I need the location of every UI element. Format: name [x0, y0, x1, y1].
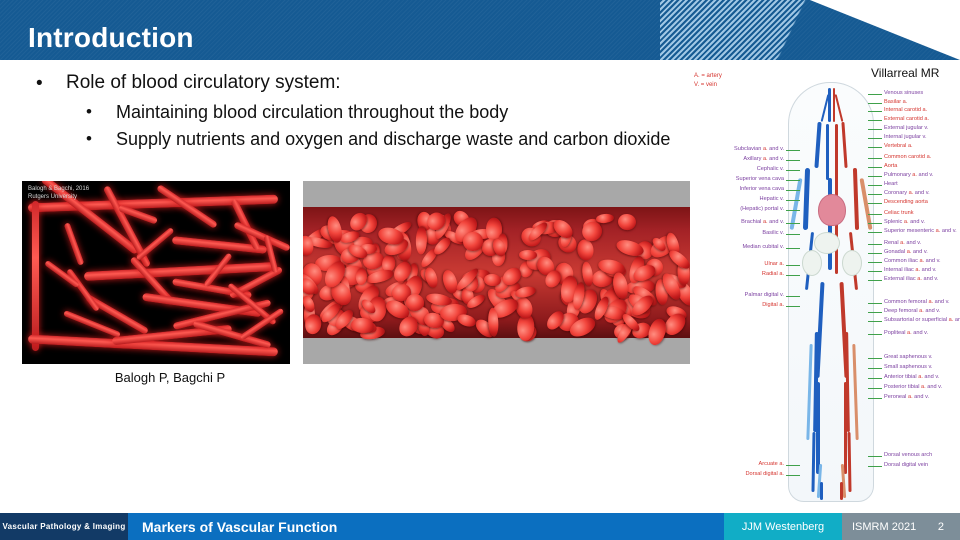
label-leader-line — [868, 262, 882, 263]
label-leader-line — [868, 358, 882, 359]
circulatory-system-diagram: A. = artery V. = vein Villarreal MR Subc… — [688, 44, 960, 506]
heart-organ — [818, 194, 846, 226]
label-leader-line — [868, 378, 882, 379]
anatomy-label: Internal iliac a. and v. — [884, 267, 936, 274]
anatomy-label: Digital a. — [762, 302, 784, 309]
anatomy-label: Dorsal digital vein — [884, 462, 928, 469]
artery-vessel — [844, 382, 847, 474]
label-leader-line — [786, 248, 800, 249]
anatomy-label: Renal a. and v. — [884, 240, 921, 247]
anatomy-label: Venous sinuses — [884, 90, 923, 97]
label-leader-line — [868, 158, 882, 159]
label-leader-line — [786, 200, 800, 201]
label-leader-line — [786, 306, 800, 307]
label-leader-line — [786, 150, 800, 151]
footer-title-bar: Markers of Vascular Function — [128, 513, 724, 540]
anatomy-label: Basilic v. — [762, 230, 784, 237]
label-leader-line — [868, 368, 882, 369]
anatomy-label: (Hepatic) portal v. — [740, 206, 784, 213]
anatomy-label: Palmar digital v. — [745, 292, 784, 299]
label-leader-line — [786, 475, 800, 476]
label-leader-line — [786, 190, 800, 191]
figure-caption: Balogh P, Bagchi P — [60, 370, 280, 385]
bullet-level2-text: Supply nutrients and oxygen and discharg… — [116, 129, 670, 149]
red-blood-cell — [519, 249, 537, 260]
anatomy-label: Great saphenous v. — [884, 354, 932, 361]
footer-conference: ISMRM 2021 — [852, 521, 916, 533]
label-leader-line — [786, 296, 800, 297]
bullet-marker-icon: • — [86, 126, 92, 152]
anatomy-label: Popliteal a. and v. — [884, 330, 928, 337]
label-leader-line — [868, 303, 882, 304]
vein-vessel — [826, 124, 829, 180]
vein-vessel — [828, 88, 831, 122]
diagram-author: Villarreal MR — [871, 66, 939, 80]
footer-author-bar: JJM Westenberg — [724, 513, 842, 540]
anatomy-label: Ulnar a. — [764, 261, 784, 268]
vein-vessel — [816, 382, 820, 474]
label-leader-line — [868, 253, 882, 254]
anatomy-label: Inferior vena cava — [740, 186, 784, 193]
footer-title: Markers of Vascular Function — [142, 519, 337, 535]
vessel-segment — [84, 262, 274, 281]
anatomy-label: Descending aorta — [884, 199, 928, 206]
label-leader-line — [868, 388, 882, 389]
label-leader-line — [786, 275, 800, 276]
label-leader-line — [786, 465, 800, 466]
anatomy-label: External jugular v. — [884, 125, 928, 132]
anatomy-label: Common femoral a. and v. — [884, 299, 950, 306]
label-leader-line — [868, 456, 882, 457]
anatomy-label: Coronary a. and v. — [884, 190, 930, 197]
bullet-level2-item: • Supply nutrients and oxygen and discha… — [24, 126, 724, 152]
anatomy-label: Anterior tibial a. and v. — [884, 374, 939, 381]
anatomy-label: Common carotid a. — [884, 154, 931, 161]
label-leader-line — [786, 180, 800, 181]
slide-footer: Vascular Pathology & Imaging Markers of … — [0, 513, 960, 540]
anatomy-label: Celiac trunk — [884, 210, 914, 217]
artery-vessel — [833, 88, 835, 122]
anatomy-label: Internal carotid a. — [884, 107, 927, 114]
label-leader-line — [868, 194, 882, 195]
label-leader-line — [868, 334, 882, 335]
anatomy-label: Radial a. — [762, 271, 784, 278]
label-leader-line — [868, 312, 882, 313]
label-leader-line — [868, 147, 882, 148]
human-body-figure — [788, 82, 874, 502]
artery-vessel — [840, 482, 843, 500]
label-leader-line — [868, 203, 882, 204]
label-leader-line — [868, 167, 882, 168]
bullet-marker-icon: • — [86, 99, 92, 125]
anatomy-label: External carotid a. — [884, 116, 929, 123]
anatomy-label: Common iliac a. and v. — [884, 258, 941, 265]
label-leader-line — [868, 398, 882, 399]
anatomy-label: Pulmonary a. and v. — [884, 172, 933, 179]
vein-vessel — [820, 482, 823, 500]
anatomy-label: Arcuate a. — [759, 461, 785, 468]
footer-logo: Vascular Pathology & Imaging — [0, 513, 128, 540]
abdominal-organ — [814, 232, 840, 254]
legend-vein: V. = vein — [694, 81, 722, 90]
credit-line-2: Rutgers University — [28, 193, 89, 201]
anatomy-label: Median cubital v. — [742, 244, 784, 251]
label-leader-line — [868, 271, 882, 272]
diagram-legend: A. = artery V. = vein — [694, 72, 722, 89]
artery-vessel — [835, 124, 838, 180]
footer-logo-text: Vascular Pathology & Imaging — [2, 522, 125, 531]
bullet-level2-item: • Maintaining blood circulation througho… — [24, 99, 724, 125]
label-leader-line — [868, 321, 882, 322]
label-leader-line — [786, 223, 800, 224]
anatomy-label: Posterior tibial a. and v. — [884, 384, 942, 391]
anatomy-label: Peroneal a. and v. — [884, 394, 929, 401]
credit-line-1: Balogh & Bagchi, 2016 — [28, 185, 89, 193]
body-silhouette — [788, 82, 874, 502]
label-leader-line — [868, 214, 882, 215]
label-leader-line — [868, 280, 882, 281]
anatomy-label: Brachial a. and v. — [741, 219, 784, 226]
red-blood-cell-image — [303, 181, 690, 364]
legend-artery: A. = artery — [694, 72, 722, 81]
microvasculature-image: Balogh & Bagchi, 2016 Rutgers University — [22, 181, 290, 364]
label-leader-line — [868, 120, 882, 121]
anatomy-label: Small saphenous v. — [884, 364, 932, 371]
anatomy-label: Dorsal digital a. — [745, 471, 784, 478]
artery-vessel — [835, 178, 838, 274]
label-leader-line — [786, 265, 800, 266]
bullet-level2-text: Maintaining blood circulation throughout… — [116, 102, 508, 122]
label-leader-line — [868, 111, 882, 112]
anatomy-label: Subsartorial or superficial a. and v. — [884, 317, 960, 324]
bullet-list: • Role of blood circulatory system: • Ma… — [24, 70, 724, 153]
anatomy-label: Splenic a. and v. — [884, 219, 925, 226]
anatomy-label: Aorta — [884, 163, 897, 170]
abdominal-organ — [842, 250, 862, 276]
microvasculature-credit: Balogh & Bagchi, 2016 Rutgers University — [28, 185, 89, 201]
anatomy-label: Superior mesenteric a. and v. — [884, 228, 957, 235]
vessel-segment — [64, 222, 85, 265]
label-leader-line — [868, 185, 882, 186]
anatomy-label: External iliac a. and v. — [884, 276, 938, 283]
footer-author: JJM Westenberg — [742, 521, 824, 533]
anatomy-label: Heart — [884, 181, 898, 188]
anatomy-label: Subclavian a. and v. — [734, 146, 784, 153]
anatomy-label: Basilar a. — [884, 99, 907, 106]
anatomy-label: Axillary a. and v. — [743, 156, 784, 163]
bullet-marker-icon: • — [36, 71, 43, 97]
anatomy-label: Cephalic v. — [757, 166, 784, 173]
label-leader-line — [868, 129, 882, 130]
label-leader-line — [868, 244, 882, 245]
label-leader-line — [868, 176, 882, 177]
footer-page-number: 2 — [938, 521, 944, 533]
abdominal-organ — [802, 250, 822, 276]
red-blood-cell — [483, 273, 501, 286]
anatomy-label: Dorsal venous arch — [884, 452, 932, 459]
red-blood-cell — [462, 231, 483, 251]
anatomy-label: Deep femoral a. and v. — [884, 308, 940, 315]
label-leader-line — [786, 210, 800, 211]
anatomy-label: Hepatic v. — [760, 196, 784, 203]
footer-conference-bar: ISMRM 2021 2 — [842, 513, 960, 540]
anatomy-label: Internal jugular v. — [884, 134, 927, 141]
label-leader-line — [868, 232, 882, 233]
label-leader-line — [868, 103, 882, 104]
anatomy-label: Superior vena cava — [736, 176, 784, 183]
page-title: Introduction — [28, 22, 194, 54]
label-leader-line — [868, 223, 882, 224]
label-leader-line — [786, 234, 800, 235]
label-leader-line — [868, 94, 882, 95]
vessel-segment — [32, 201, 39, 351]
vessel-segment — [135, 227, 174, 261]
label-leader-line — [868, 466, 882, 467]
label-leader-line — [868, 138, 882, 139]
anatomy-label: Vertebral a. — [884, 143, 913, 150]
label-leader-line — [786, 160, 800, 161]
bullet-level1-text: Role of blood circulatory system: — [66, 72, 341, 93]
label-leader-line — [786, 170, 800, 171]
anatomy-label: Gonadal a. and v. — [884, 249, 928, 256]
bullet-level1: • Role of blood circulatory system: — [24, 70, 724, 96]
